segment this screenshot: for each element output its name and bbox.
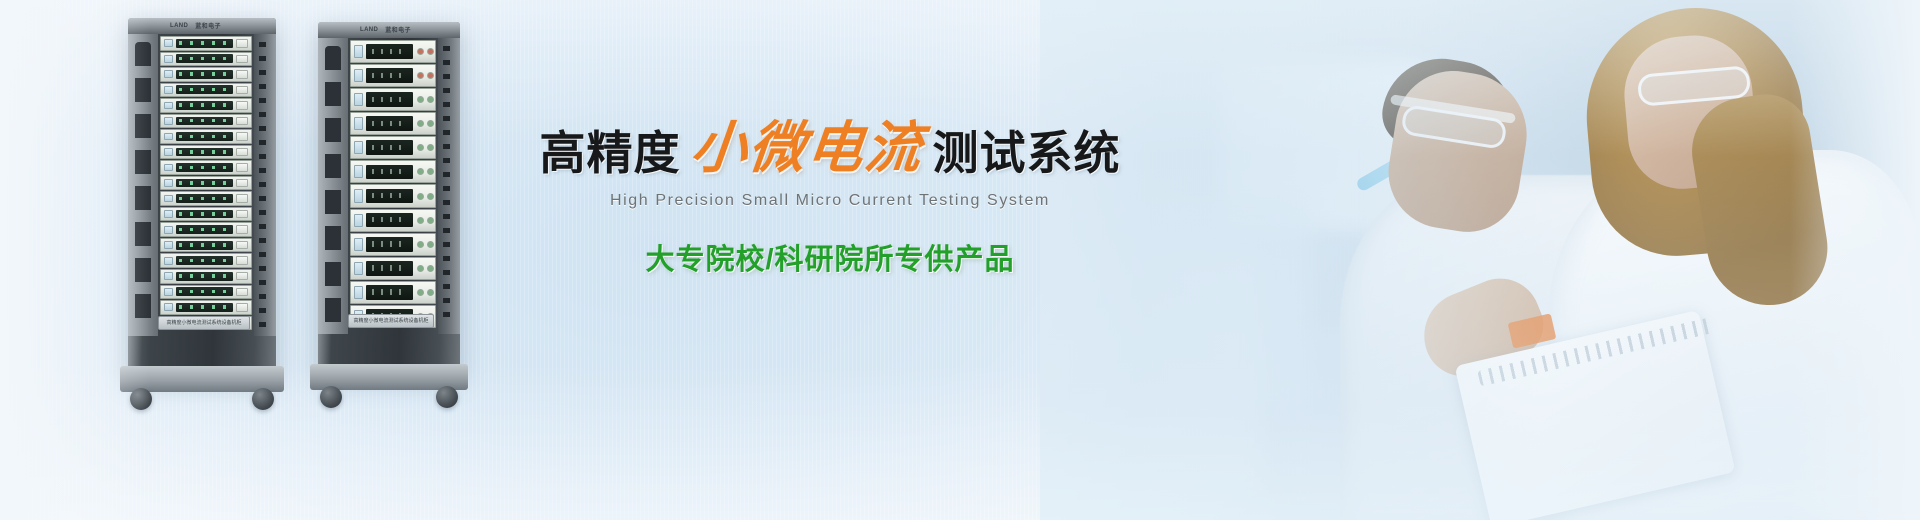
rack-unit [350, 160, 436, 183]
rack-unit [350, 40, 436, 63]
unit-channel-strip [176, 85, 233, 94]
rack-top-panel: LAND 蓝和电子 [318, 22, 460, 38]
unit-display [366, 92, 413, 107]
knob-icon [418, 169, 423, 174]
unit-indicator [164, 241, 173, 249]
unit-indicator [354, 189, 363, 202]
unit-indicator [164, 117, 173, 125]
knob-icon [418, 145, 423, 150]
product-banner: LAND 蓝和电子 [0, 0, 1920, 520]
knob-icon [428, 97, 433, 102]
unit-display [366, 116, 413, 131]
unit-indicator [354, 141, 363, 154]
unit-channel-strip [176, 132, 233, 141]
unit-display [366, 44, 413, 59]
unit-end-cap [236, 256, 248, 265]
rack-caster [436, 386, 458, 408]
unit-channel-strip [176, 225, 233, 234]
banner-subtitle: High Precision Small Micro Current Testi… [520, 192, 1140, 210]
rack-unit [160, 300, 252, 315]
rack-brand-label: LAND 蓝和电子 [360, 25, 450, 34]
unit-indicator [164, 272, 173, 280]
unit-end-cap [236, 86, 248, 95]
unit-indicator [164, 257, 173, 265]
unit-end-cap [236, 101, 248, 110]
unit-display [366, 285, 413, 300]
unit-indicator [164, 195, 173, 203]
unit-knobs [416, 41, 435, 62]
unit-indicator [164, 210, 173, 218]
rack-model-text: 蓝和电子 [195, 21, 221, 30]
unit-indicator [164, 86, 173, 94]
unit-channel-strip [176, 70, 233, 79]
unit-end-cap [236, 163, 248, 172]
unit-channel-strip [176, 241, 233, 250]
rack-unit [160, 285, 252, 300]
rack-unit-stack [350, 40, 436, 328]
unit-knobs [416, 234, 435, 255]
unit-knobs [416, 89, 435, 110]
unit-indicator [354, 238, 363, 251]
knob-icon [418, 266, 423, 271]
rack-nameplate: 高精度小微电流测试系统设备机柜 [158, 316, 250, 330]
rack-unit [160, 176, 252, 191]
unit-channel-strip [176, 272, 233, 281]
knob-icon [428, 242, 433, 247]
unit-end-cap [236, 210, 248, 219]
unit-indicator [164, 303, 173, 311]
knob-icon [428, 73, 433, 78]
unit-indicator [164, 226, 173, 234]
unit-knobs [416, 113, 435, 134]
photo-fade-overlay-vertical [1040, 0, 1920, 520]
rack-unit [160, 160, 252, 175]
unit-channel-strip [176, 210, 233, 219]
rack-unit [160, 83, 252, 98]
rack-unit [160, 253, 252, 268]
knob-icon [418, 218, 423, 223]
unit-indicator [354, 45, 363, 58]
knob-icon [418, 121, 423, 126]
unit-indicator [354, 286, 363, 299]
knob-icon [428, 194, 433, 199]
unit-channel-strip [176, 117, 233, 126]
unit-knobs [416, 137, 435, 158]
rack-brand-text: LAND [170, 23, 188, 29]
rack-unit [350, 64, 436, 87]
unit-indicator [164, 179, 173, 187]
banner-title: 高精度 小微电流 测试系统 [520, 120, 1140, 176]
rack-right-rail [254, 34, 276, 336]
knob-icon [428, 169, 433, 174]
unit-end-cap [236, 241, 248, 250]
rack-unit [160, 36, 252, 51]
unit-channel-strip [176, 303, 233, 312]
unit-end-cap [236, 70, 248, 79]
knob-icon [428, 290, 433, 295]
unit-knobs [416, 161, 435, 182]
rack-caster [252, 388, 274, 410]
knob-icon [418, 73, 423, 78]
unit-display [366, 261, 413, 276]
unit-indicator [164, 55, 173, 63]
rack-caster [130, 388, 152, 410]
unit-display [366, 213, 413, 228]
unit-indicator [164, 164, 173, 172]
rack-unit [160, 145, 252, 160]
unit-channel-strip [176, 148, 233, 157]
rack-nameplate: 高精度小微电流测试系统设备机柜 [348, 314, 434, 328]
rack-unit [350, 184, 436, 207]
rack-unit [350, 112, 436, 135]
knob-icon [428, 145, 433, 150]
rack-unit [350, 233, 436, 256]
unit-channel-strip [176, 287, 233, 296]
instrument-rack: LAND 蓝和电子 高精度小微电流测试系统设备机柜 [318, 22, 460, 408]
unit-indicator [164, 102, 173, 110]
unit-end-cap [236, 117, 248, 126]
rack-unit [160, 129, 252, 144]
unit-indicator [354, 69, 363, 82]
unit-knobs [416, 282, 435, 303]
rack-unit [160, 67, 252, 82]
rack-unit [160, 238, 252, 253]
knob-icon [418, 194, 423, 199]
unit-indicator [164, 148, 173, 156]
unit-end-cap [236, 225, 248, 234]
unit-display [366, 140, 413, 155]
unit-end-cap [236, 148, 248, 157]
unit-indicator [164, 39, 173, 47]
unit-end-cap [236, 132, 248, 141]
rack-left-rail [318, 38, 348, 334]
unit-display [366, 189, 413, 204]
unit-indicator [164, 70, 173, 78]
rack-top-panel: LAND 蓝和电子 [128, 18, 276, 34]
rack-model-text: 蓝和电子 [385, 25, 411, 34]
unit-indicator [354, 117, 363, 130]
knob-icon [428, 218, 433, 223]
unit-channel-strip [176, 101, 233, 110]
title-suffix: 测试系统 [933, 130, 1121, 176]
rack-unit [160, 114, 252, 129]
unit-indicator [164, 288, 173, 296]
unit-display [366, 68, 413, 83]
unit-indicator [164, 133, 173, 141]
rack-unit [350, 136, 436, 159]
unit-knobs [416, 185, 435, 206]
unit-indicator [354, 262, 363, 275]
unit-end-cap [236, 39, 248, 48]
knob-icon [428, 266, 433, 271]
rack-unit [160, 191, 252, 206]
knob-icon [418, 290, 423, 295]
unit-end-cap [236, 303, 248, 312]
unit-end-cap [236, 179, 248, 188]
unit-indicator [354, 165, 363, 178]
rack-brand-text: LAND [360, 27, 378, 33]
rack-caster [320, 386, 342, 408]
rack-brand-label: LAND 蓝和电子 [170, 21, 266, 30]
title-highlight: 小微电流 [688, 120, 926, 176]
unit-channel-strip [176, 179, 233, 188]
rack-unit [350, 281, 436, 304]
rack-unit [160, 269, 252, 284]
rack-unit [160, 98, 252, 113]
title-prefix: 高精度 [540, 130, 681, 176]
unit-end-cap [236, 288, 248, 297]
unit-display [366, 165, 413, 180]
rack-unit [160, 52, 252, 67]
knob-icon [418, 97, 423, 102]
channel-rack: LAND 蓝和电子 [128, 18, 276, 410]
laboratory-scientists-photo [1040, 0, 1920, 520]
unit-knobs [416, 210, 435, 231]
knob-icon [418, 242, 423, 247]
unit-channel-strip [176, 39, 233, 48]
rack-right-rail [438, 38, 460, 334]
knob-icon [428, 121, 433, 126]
unit-knobs [416, 65, 435, 86]
rack-unit [160, 207, 252, 222]
rack-unit [350, 209, 436, 232]
unit-channel-strip [176, 256, 233, 265]
knob-icon [428, 49, 433, 54]
knob-icon [418, 49, 423, 54]
unit-end-cap [236, 194, 248, 203]
unit-display [366, 237, 413, 252]
unit-end-cap [236, 55, 248, 64]
unit-end-cap [236, 272, 248, 281]
rack-unit [160, 222, 252, 237]
banner-tagline: 大专院校/科研院所专供产品 [520, 236, 1140, 278]
banner-copy-block: 高精度 小微电流 测试系统 High Precision Small Micro… [520, 120, 1140, 278]
unit-channel-strip [176, 163, 233, 172]
unit-channel-strip [176, 194, 233, 203]
unit-knobs [416, 258, 435, 279]
rack-left-rail [128, 34, 158, 336]
unit-channel-strip [176, 54, 233, 63]
rack-unit [350, 88, 436, 111]
unit-indicator [354, 214, 363, 227]
rack-unit-stack [160, 36, 252, 330]
rack-unit [350, 257, 436, 280]
unit-indicator [354, 93, 363, 106]
